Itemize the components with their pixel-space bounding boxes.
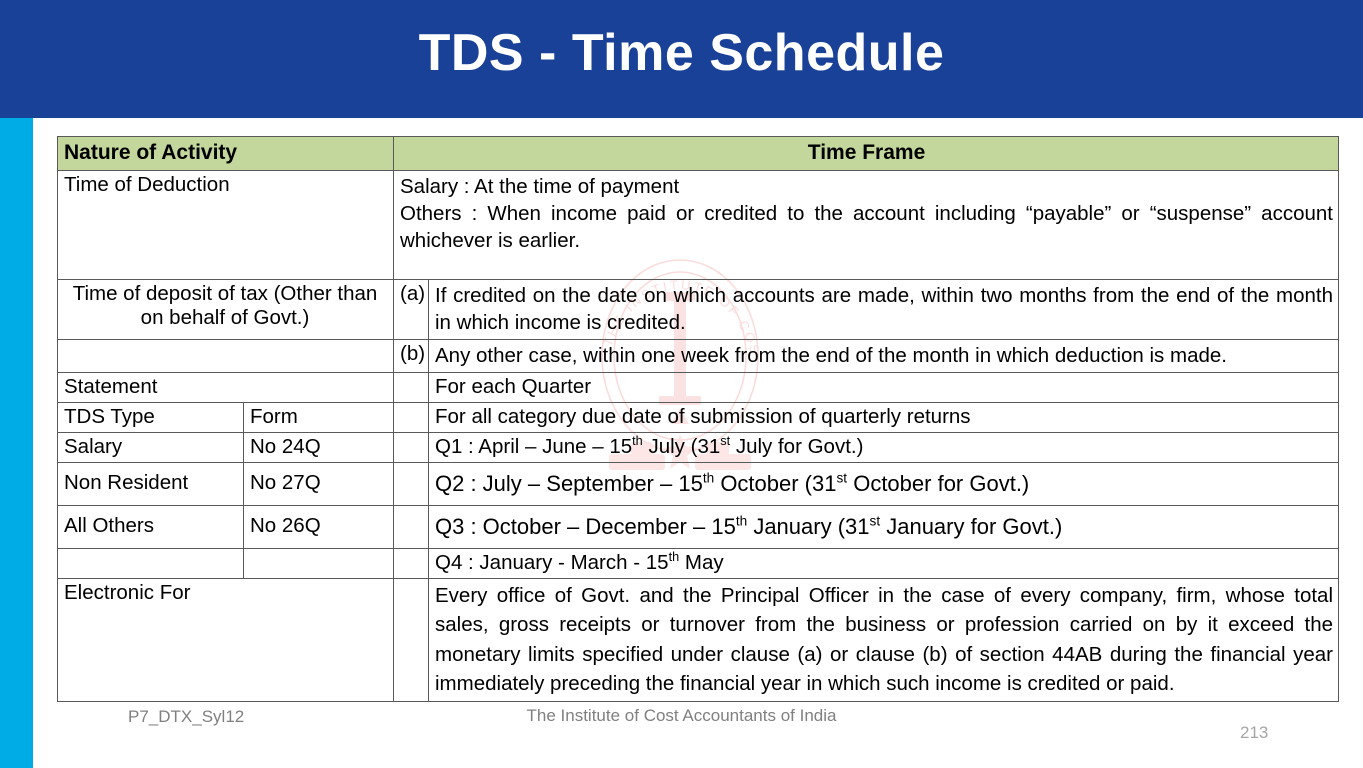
cell-sub-label: (b): [394, 340, 429, 373]
cell-tds-type: Salary: [58, 433, 244, 463]
cell-form: No 24Q: [244, 433, 394, 463]
table-row: Q4 : January - March - 15th May: [58, 549, 1339, 579]
cell-time-frame: If credited on the date on which account…: [429, 280, 1339, 340]
cell-time-frame: Salary : At the time of payment Others :…: [394, 171, 1339, 280]
column-header-time-frame: Time Frame: [394, 137, 1339, 171]
cell-activity: Time of Deduction: [58, 171, 394, 280]
cell-sub-label: [394, 433, 429, 463]
cell-quarter-due-date: Q3 : October – December – 15th January (…: [429, 506, 1339, 549]
column-header-activity: Nature of Activity: [58, 137, 394, 171]
table-row: Non Resident No 27Q Q2 : July – Septembe…: [58, 463, 1339, 506]
cell-time-frame: For all category due date of submission …: [429, 403, 1339, 433]
footer-page-number: 213: [1240, 723, 1268, 743]
time-frame-line: Salary : At the time of payment: [400, 173, 1333, 200]
cell-sub-label: [394, 463, 429, 506]
page-title: TDS - Time Schedule: [0, 22, 1363, 84]
cell-activity: Statement: [58, 373, 394, 403]
tds-time-schedule-table: Nature of Activity Time Frame Time of De…: [57, 136, 1339, 702]
cell-tds-type: Non Resident: [58, 463, 244, 506]
cell-time-frame: Any other case, within one week from the…: [429, 340, 1339, 373]
table-row: Time of deposit of tax (Other than on be…: [58, 280, 1339, 340]
cell-sub-label: [394, 373, 429, 403]
cell-sub-label: [394, 506, 429, 549]
cell-form: Form: [244, 403, 394, 433]
table-header-row: Nature of Activity Time Frame: [58, 137, 1339, 171]
cell-tds-type: All Others: [58, 506, 244, 549]
cell-sub-label: [394, 403, 429, 433]
cell-time-frame: For each Quarter: [429, 373, 1339, 403]
cell-form: No 26Q: [244, 506, 394, 549]
table-row: All Others No 26Q Q3 : October – Decembe…: [58, 506, 1339, 549]
table-row: Statement For each Quarter: [58, 373, 1339, 403]
left-accent-bar: [0, 118, 33, 768]
cell-tds-type: [58, 549, 244, 579]
cell-activity: Electronic For: [58, 579, 394, 701]
time-frame-line: Others : When income paid or credited to…: [400, 200, 1333, 254]
cell-quarter-due-date: Q4 : January - March - 15th May: [429, 549, 1339, 579]
table-row: (b) Any other case, within one week from…: [58, 340, 1339, 373]
footer-organisation: The Institute of Cost Accountants of Ind…: [0, 706, 1363, 726]
slide-canvas: TDS - Time Schedule THE: [0, 0, 1363, 768]
cell-activity: [58, 340, 394, 373]
cell-form: No 27Q: [244, 463, 394, 506]
table-row: Electronic For Every office of Govt. and…: [58, 579, 1339, 701]
cell-quarter-due-date: Q2 : July – September – 15th October (31…: [429, 463, 1339, 506]
cell-tds-type: TDS Type: [58, 403, 244, 433]
table-row: Time of Deduction Salary : At the time o…: [58, 171, 1339, 280]
cell-sub-label: [394, 579, 429, 701]
table-row: Salary No 24Q Q1 : April – June – 15th J…: [58, 433, 1339, 463]
cell-activity: Time of deposit of tax (Other than on be…: [58, 280, 394, 340]
cell-form: [244, 549, 394, 579]
cell-sub-label: [394, 549, 429, 579]
cell-sub-label: (a): [394, 280, 429, 340]
table-row: TDS Type Form For all category due date …: [58, 403, 1339, 433]
cell-quarter-due-date: Q1 : April – June – 15th July (31st July…: [429, 433, 1339, 463]
cell-time-frame: Every office of Govt. and the Principal …: [429, 579, 1339, 701]
